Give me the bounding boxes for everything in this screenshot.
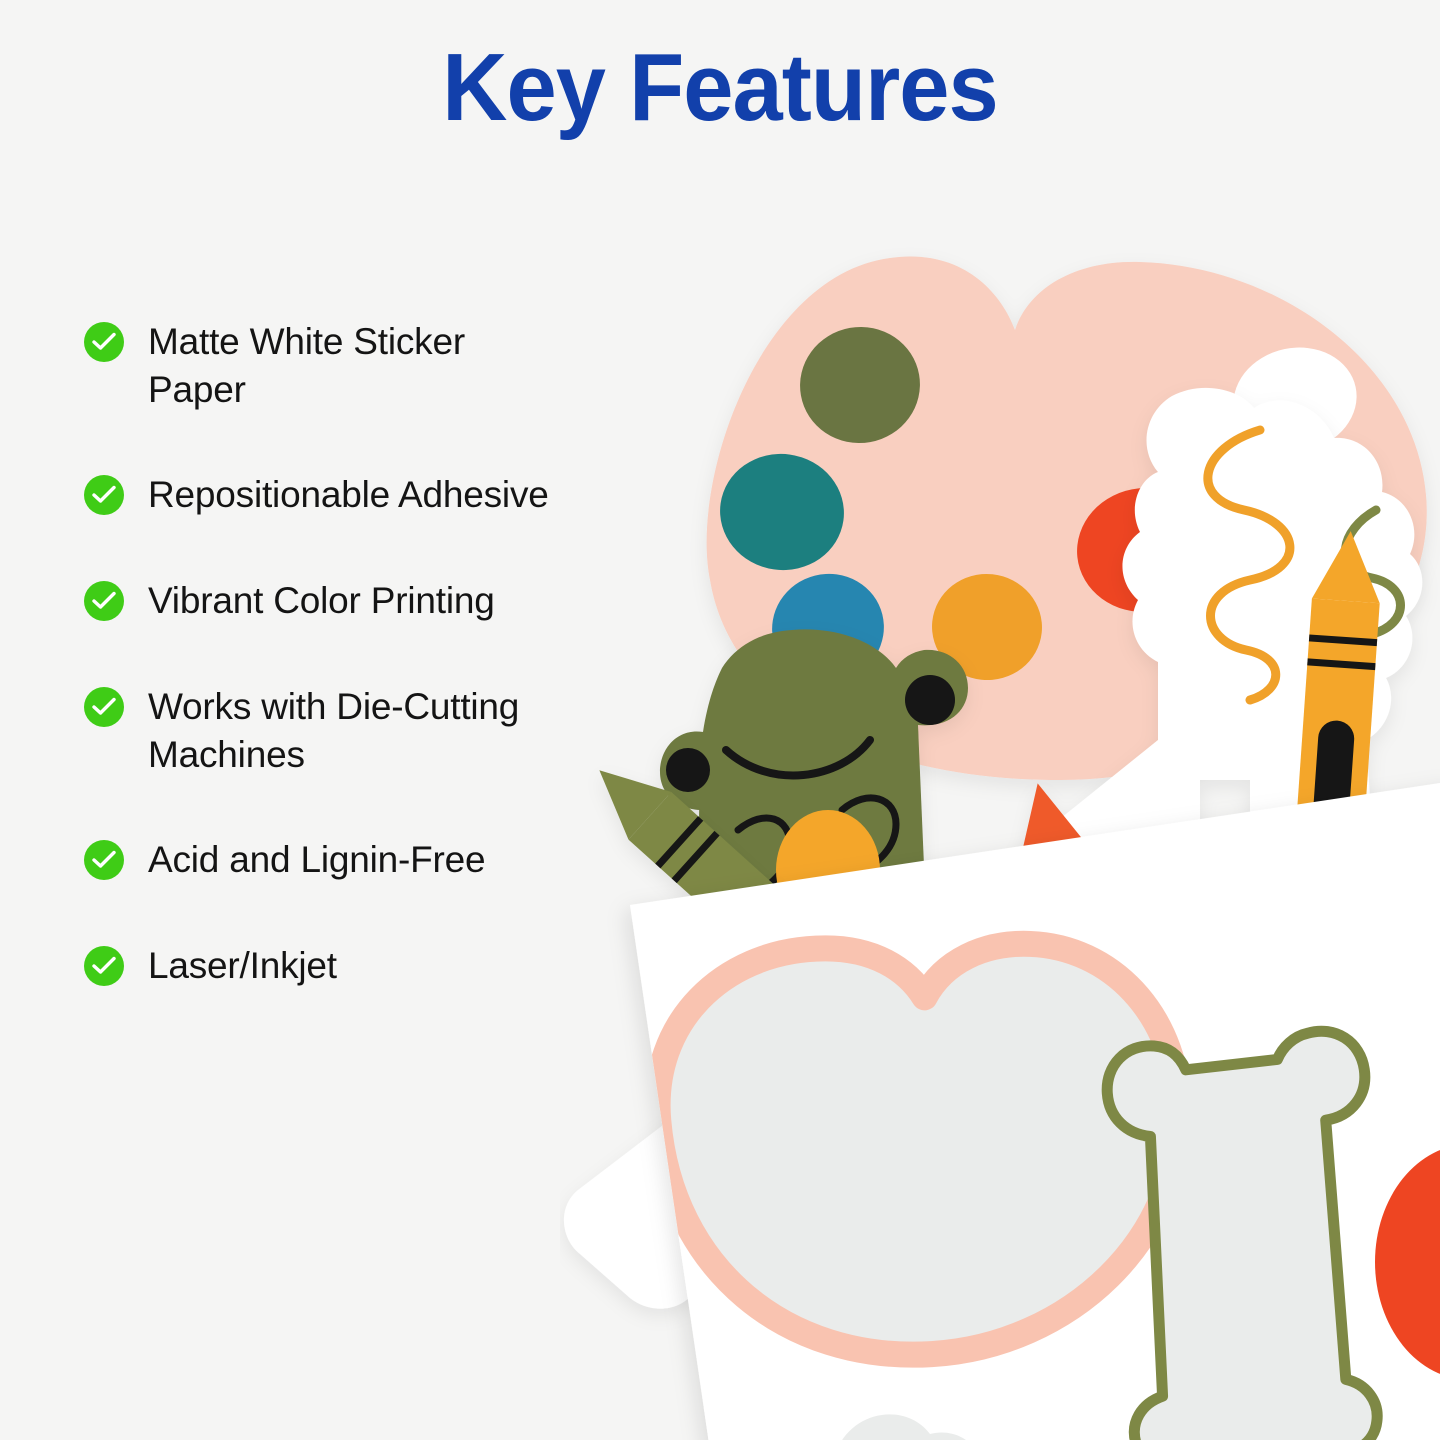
frog-eye-right [905,675,955,725]
feature-label: Matte White Sticker Paper [148,318,568,413]
check-circle-icon [84,475,124,515]
feature-label: Acid and Lignin-Free [148,836,485,884]
check-circle-icon [84,946,124,986]
check-circle-icon [84,581,124,621]
feature-label: Works with Die-Cutting Machines [148,683,568,778]
feature-label: Repositionable Adhesive [148,471,549,519]
feature-label: Laser/Inkjet [148,942,337,990]
product-illustration: do it! [560,180,1440,1440]
check-circle-icon [84,687,124,727]
frog-eye-left [666,748,710,792]
red-ring-sticker [1375,1144,1440,1380]
infographic-canvas: Key Features Matte White Sticker Paper R… [0,0,1440,1440]
check-circle-icon [84,322,124,362]
check-circle-icon [84,840,124,880]
feature-label: Vibrant Color Printing [148,577,495,625]
page-title: Key Features [43,34,1397,142]
